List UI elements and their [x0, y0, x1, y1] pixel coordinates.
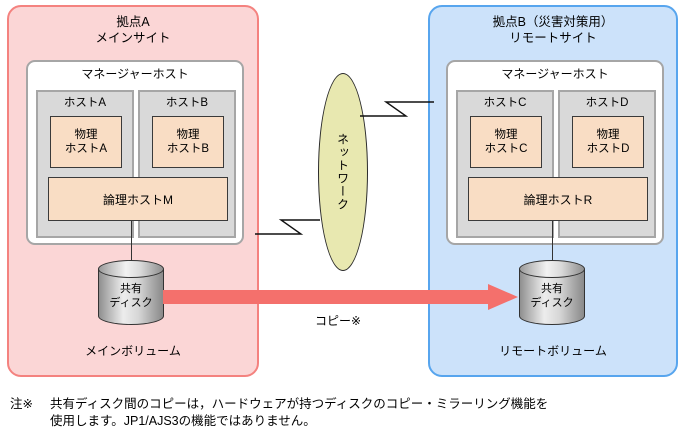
- manager-host-box-remote: マネージャーホスト ホストC 物理 ホストC ホストD 物理 ホストD 論理ホス…: [446, 60, 664, 245]
- manager-host-title-remote: マネージャーホスト: [448, 67, 662, 82]
- footnote-text: 共有ディスク間のコピーは，ハードウェアが持つディスクのコピー・ミラーリング機能を…: [50, 396, 674, 430]
- shared-disk-main: 共有 ディスク: [98, 260, 164, 334]
- disk-connector-line-remote: [552, 221, 553, 264]
- disk-top-main: [98, 260, 164, 278]
- logical-host-m: 論理ホストM: [48, 177, 228, 221]
- volume-label-remote: リモートボリューム: [463, 342, 643, 359]
- network-connector-left: [255, 198, 327, 246]
- footnote-mark: 注※: [10, 396, 33, 413]
- physical-host-c: 物理 ホストC: [470, 116, 542, 168]
- manager-host-box-main: マネージャーホスト ホストA 物理 ホストA ホストB 物理 ホストB 論理ホス…: [26, 60, 244, 245]
- manager-host-title-main: マネージャーホスト: [28, 67, 242, 82]
- logical-host-r: 論理ホストR: [468, 177, 648, 221]
- physical-host-a: 物理 ホストA: [50, 116, 122, 168]
- copy-arrow: [163, 284, 518, 310]
- host-title-b: ホストB: [140, 96, 234, 110]
- host-title-d: ホストD: [560, 96, 654, 110]
- shared-disk-remote: 共有 ディスク: [519, 260, 585, 334]
- disk-connector-line-main: [131, 221, 132, 264]
- diagram-canvas: 拠点A メインサイト マネージャーホスト ホストA 物理 ホストA ホストB 物…: [0, 0, 684, 438]
- disk-label-main: 共有 ディスク: [98, 282, 164, 310]
- site-title-remote: 拠点B（災害対策用） リモートサイト: [430, 14, 676, 46]
- site-title-main: 拠点A メインサイト: [9, 14, 257, 46]
- host-title-c: ホストC: [458, 96, 552, 110]
- footnote: 注※ 共有ディスク間のコピーは，ハードウェアが持つディスクのコピー・ミラーリング…: [10, 396, 674, 430]
- physical-host-b: 物理 ホストB: [152, 116, 224, 168]
- volume-label-main: メインボリューム: [43, 342, 223, 359]
- disk-label-remote: 共有 ディスク: [519, 282, 585, 310]
- copy-label: コピー※: [263, 312, 413, 329]
- network-connector-right: [358, 82, 434, 128]
- host-title-a: ホストA: [38, 96, 132, 110]
- disk-top-remote: [519, 260, 585, 278]
- physical-host-d: 物理 ホストD: [572, 116, 644, 168]
